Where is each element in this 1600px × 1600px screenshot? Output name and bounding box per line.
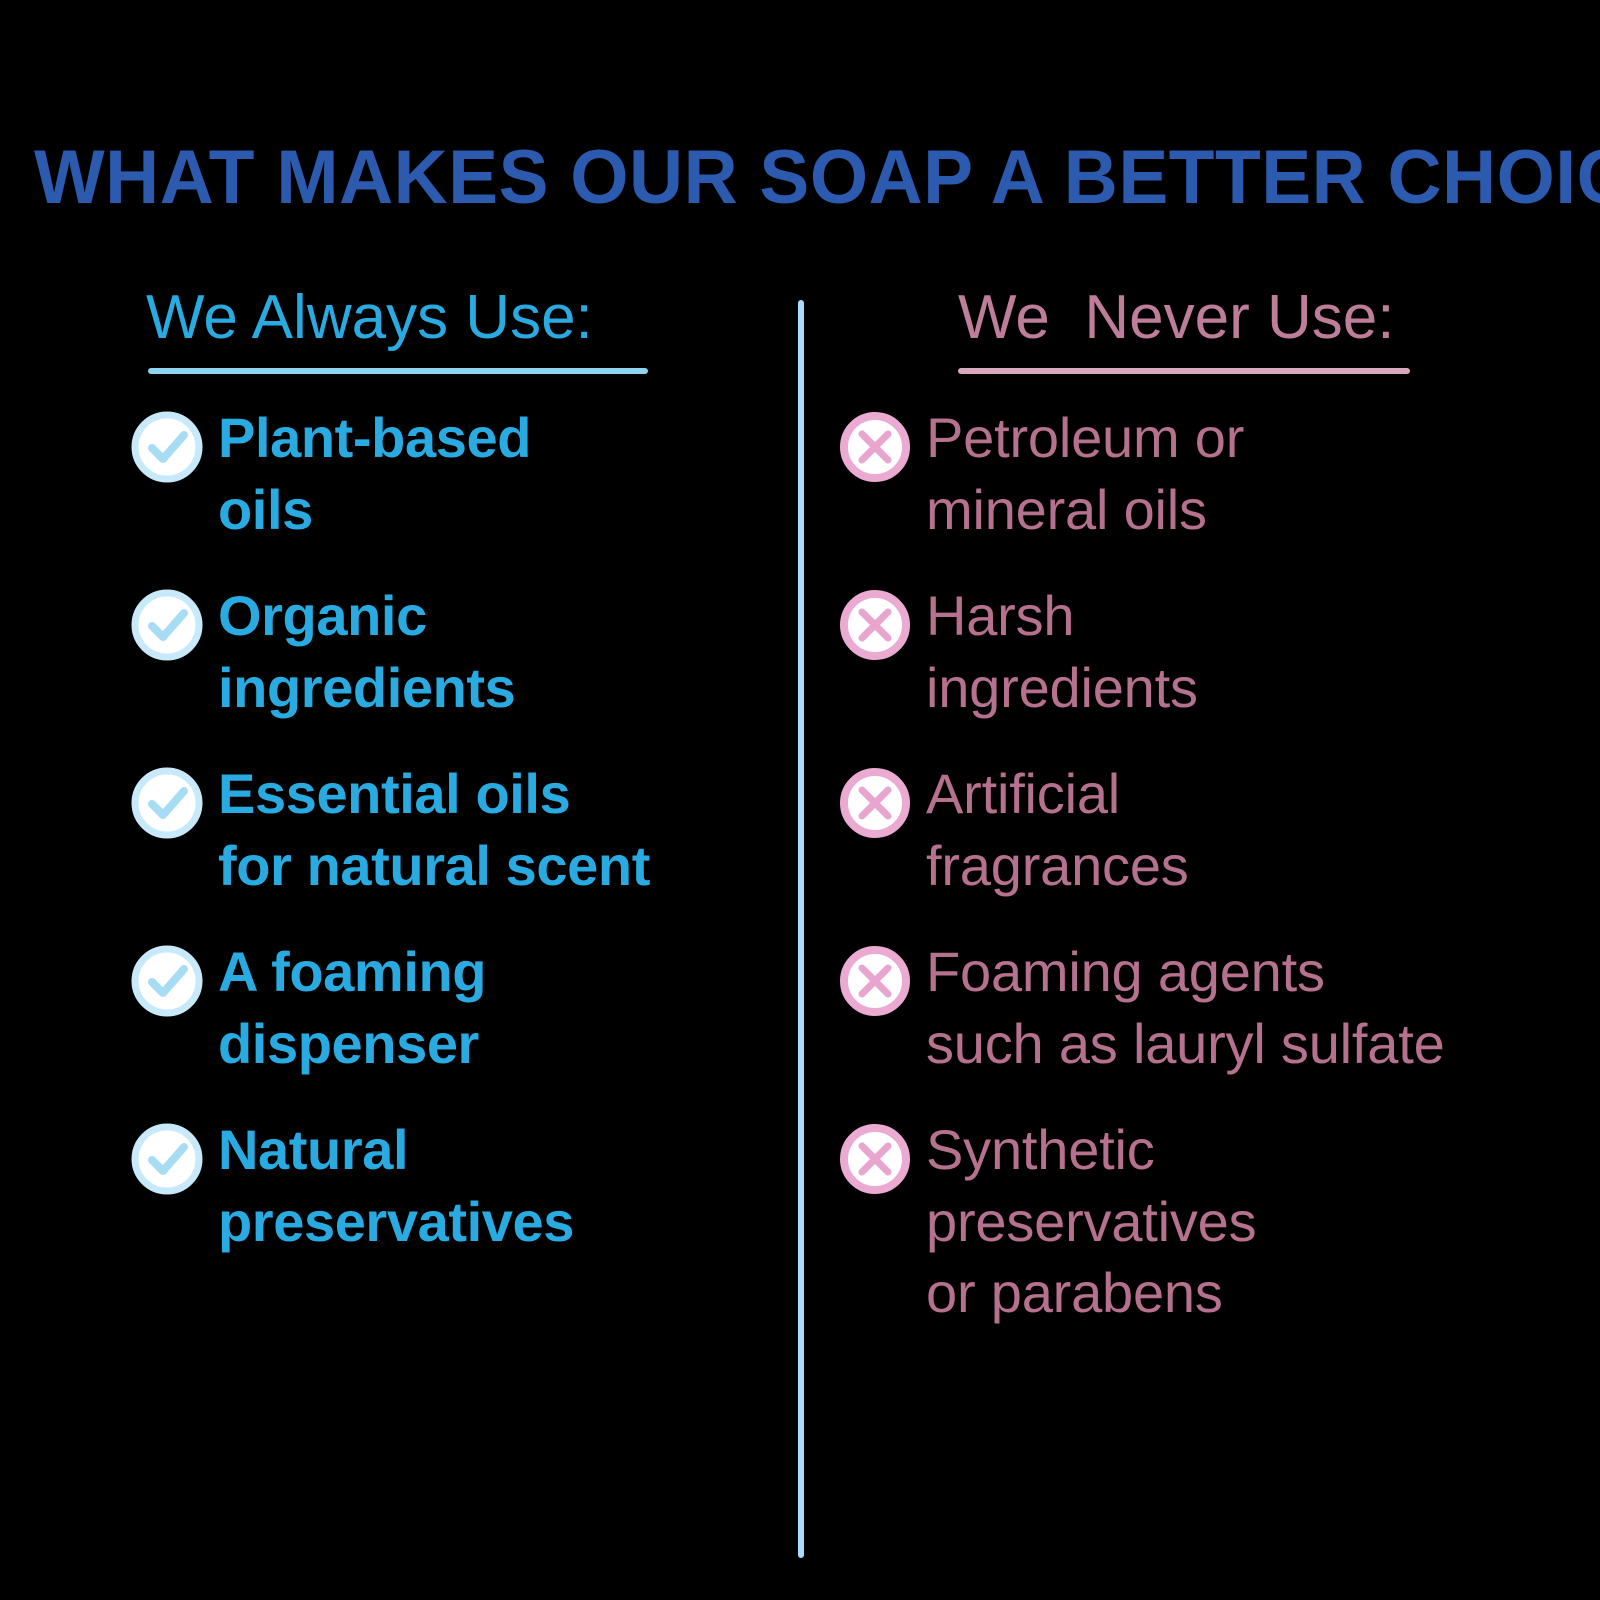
list-item: Foaming agents such as lauryl sulfate (830, 936, 1590, 1114)
check-circle-icon (130, 1122, 204, 1196)
list-item-label: Plant-based oils (218, 402, 782, 545)
list-item-label: Organic ingredients (218, 580, 782, 723)
x-circle-icon (838, 588, 912, 662)
list-never-use: Petroleum or mineral oils Harsh ingredie… (830, 402, 1590, 1329)
list-item-label: Petroleum or mineral oils (926, 402, 1590, 545)
page-title: WHAT MAKES OUR SOAP A BETTER CHOICE? (34, 140, 1551, 216)
column-heading-never-use: We Never Use: (958, 285, 1590, 350)
list-item: Synthetic preservatives or parabens (830, 1114, 1590, 1329)
list-item-label: Artificial fragrances (926, 758, 1590, 901)
x-circle-icon (838, 410, 912, 484)
column-never-use: We Never Use: Petroleum or mineral oils (830, 285, 1590, 1329)
list-item-label: A foaming dispenser (218, 936, 782, 1079)
check-circle-icon (130, 588, 204, 662)
list-item: Petroleum or mineral oils (830, 402, 1590, 580)
list-item-label: Natural preservatives (218, 1114, 782, 1257)
x-circle-icon (838, 766, 912, 840)
list-item-label: Essential oils for natural scent (218, 758, 782, 901)
list-item-label: Synthetic preservatives or parabens (926, 1114, 1590, 1329)
check-circle-icon (130, 766, 204, 840)
list-item-label: Harsh ingredients (926, 580, 1590, 723)
check-circle-icon (130, 410, 204, 484)
heading-underline-right (958, 368, 1410, 374)
check-circle-icon (130, 944, 204, 1018)
list-item: Artificial fragrances (830, 758, 1590, 936)
list-item: Plant-based oils (122, 402, 782, 580)
x-circle-icon (838, 944, 912, 1018)
x-circle-icon (838, 1122, 912, 1196)
infographic-poster: WHAT MAKES OUR SOAP A BETTER CHOICE? We … (0, 0, 1600, 1600)
list-item: Essential oils for natural scent (122, 758, 782, 936)
list-always-use: Plant-based oils Organic ingredients (122, 402, 782, 1292)
column-divider (798, 300, 804, 1558)
column-always-use: We Always Use: Plant-based oils (122, 285, 782, 1292)
list-item: Natural preservatives (122, 1114, 782, 1292)
list-item-label: Foaming agents such as lauryl sulfate (926, 936, 1590, 1079)
column-heading-always-use: We Always Use: (146, 285, 782, 350)
list-item: A foaming dispenser (122, 936, 782, 1114)
heading-underline-left (148, 368, 648, 374)
list-item: Organic ingredients (122, 580, 782, 758)
list-item: Harsh ingredients (830, 580, 1590, 758)
